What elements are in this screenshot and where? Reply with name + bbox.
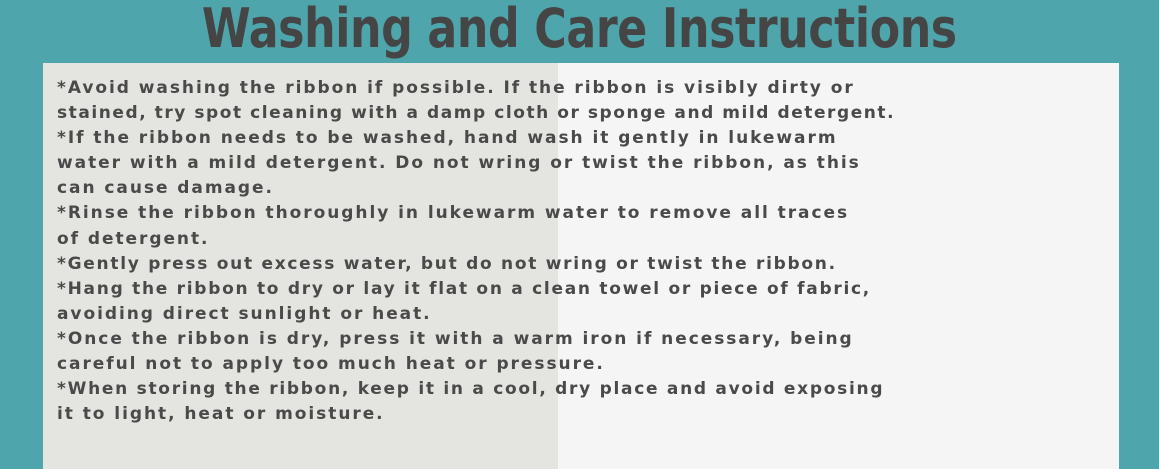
text-line: *Rinse the ribbon thoroughly in lukewarm… [57,201,1119,226]
page-title: Washing and Care Instructions [202,0,957,58]
text-line: water with a mild detergent. Do not wrin… [57,151,1119,176]
text-line: *Hang the ribbon to dry or lay it flat o… [57,277,1119,302]
text-line: *If the ribbon needs to be washed, hand … [57,126,1119,151]
text-line: avoiding direct sunlight or heat. [57,302,1119,327]
text-line: stained, try spot cleaning with a damp c… [57,101,1119,126]
slide-canvas: Washing and Care Instructions *Avoid was… [0,0,1159,469]
content-panel: *Avoid washing the ribbon if possible. I… [43,63,1119,469]
instructions-text-block: *Avoid washing the ribbon if possible. I… [57,76,1119,427]
text-line: it to light, heat or moisture. [57,402,1119,427]
text-line: can cause damage. [57,176,1119,201]
text-line: *Gently press out excess water, but do n… [57,252,1119,277]
text-line: *Avoid washing the ribbon if possible. I… [57,76,1119,101]
text-line: careful not to apply too much heat or pr… [57,352,1119,377]
title-bar: Washing and Care Instructions [0,0,1159,60]
text-line: of detergent. [57,227,1119,252]
text-line: *When storing the ribbon, keep it in a c… [57,377,1119,402]
text-line: *Once the ribbon is dry, press it with a… [57,327,1119,352]
